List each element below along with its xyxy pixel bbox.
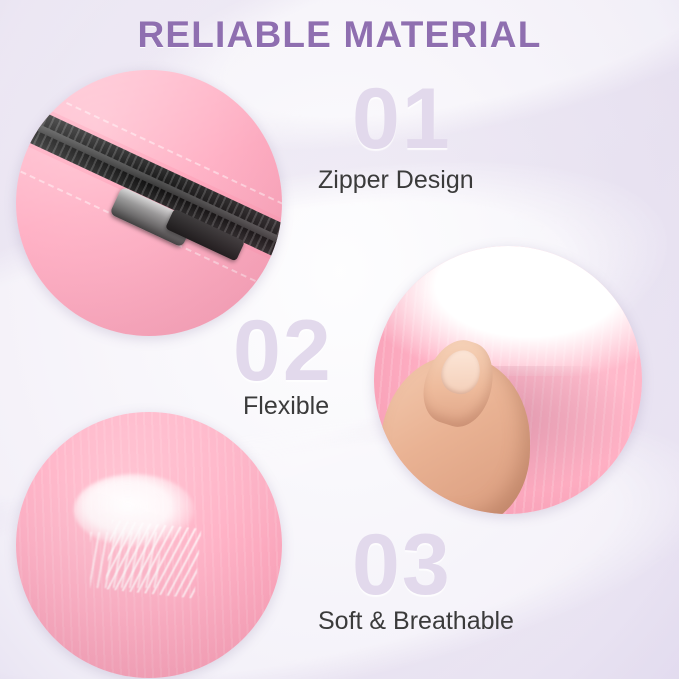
zipper-photo bbox=[16, 70, 282, 336]
feature-photo-02 bbox=[374, 246, 642, 514]
feature-caption-02: Flexible bbox=[243, 392, 329, 421]
stretch-photo bbox=[374, 246, 642, 514]
feature-number-03: 03 bbox=[352, 516, 452, 615]
breathable-photo bbox=[16, 412, 282, 678]
feature-photo-03 bbox=[16, 412, 282, 678]
feature-caption-03: Soft & Breathable bbox=[318, 607, 514, 636]
fabric-shading bbox=[16, 70, 282, 336]
feature-number-01: 01 bbox=[352, 70, 452, 169]
feature-caption-01: Zipper Design bbox=[318, 166, 474, 195]
product-feature-poster: RELIABLE MATERIAL 01 Zipper Design 02 Fl… bbox=[0, 0, 679, 679]
page-title: RELIABLE MATERIAL bbox=[0, 14, 679, 56]
feature-photo-01 bbox=[16, 70, 282, 336]
fabric-shading bbox=[16, 412, 282, 678]
